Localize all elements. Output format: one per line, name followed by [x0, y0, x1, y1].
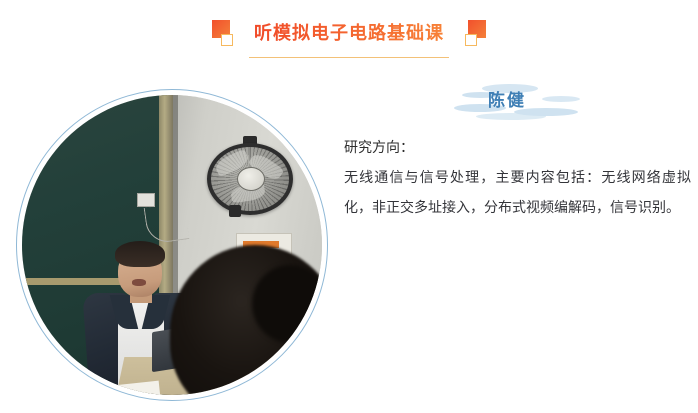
- foreground-student-hair-tuft: [252, 265, 322, 343]
- classroom-scene: [22, 95, 322, 395]
- lecturer-mouth: [132, 279, 146, 286]
- title-row: 听模拟电子电路基础课: [0, 18, 698, 48]
- fan-hub: [237, 167, 265, 191]
- research-direction-label: 研究方向：: [344, 132, 694, 162]
- square-decoration-right-icon: [460, 20, 486, 46]
- wall-mounted-fan: [207, 143, 293, 215]
- wall-outlet: [137, 193, 155, 207]
- profile-info-block: 研究方向： 无线通信与信号处理，主要内容包括：无线网络虚拟化，非正交多址接入，分…: [344, 132, 694, 222]
- photo-clip: [22, 95, 322, 395]
- lecture-photo: [16, 89, 328, 401]
- lecturer-hair: [115, 241, 165, 267]
- profile-name: 陈健: [488, 86, 526, 111]
- page-title: 听模拟电子电路基础课: [254, 20, 444, 46]
- cloud-brush-decoration: [542, 96, 580, 102]
- square-decoration-outline: [221, 34, 233, 46]
- fan-foot: [229, 205, 241, 217]
- cloud-brush-decoration: [476, 113, 546, 120]
- profile-name-block: 陈健: [452, 82, 582, 122]
- square-decoration-outline: [465, 34, 477, 46]
- page-header: 听模拟电子电路基础课: [0, 18, 698, 64]
- research-direction-description: 无线通信与信号处理，主要内容包括：无线网络虚拟化，非正交多址接入，分布式视频编解…: [344, 162, 691, 222]
- square-decoration-left-icon: [212, 20, 238, 46]
- title-underline-divider: [249, 57, 449, 58]
